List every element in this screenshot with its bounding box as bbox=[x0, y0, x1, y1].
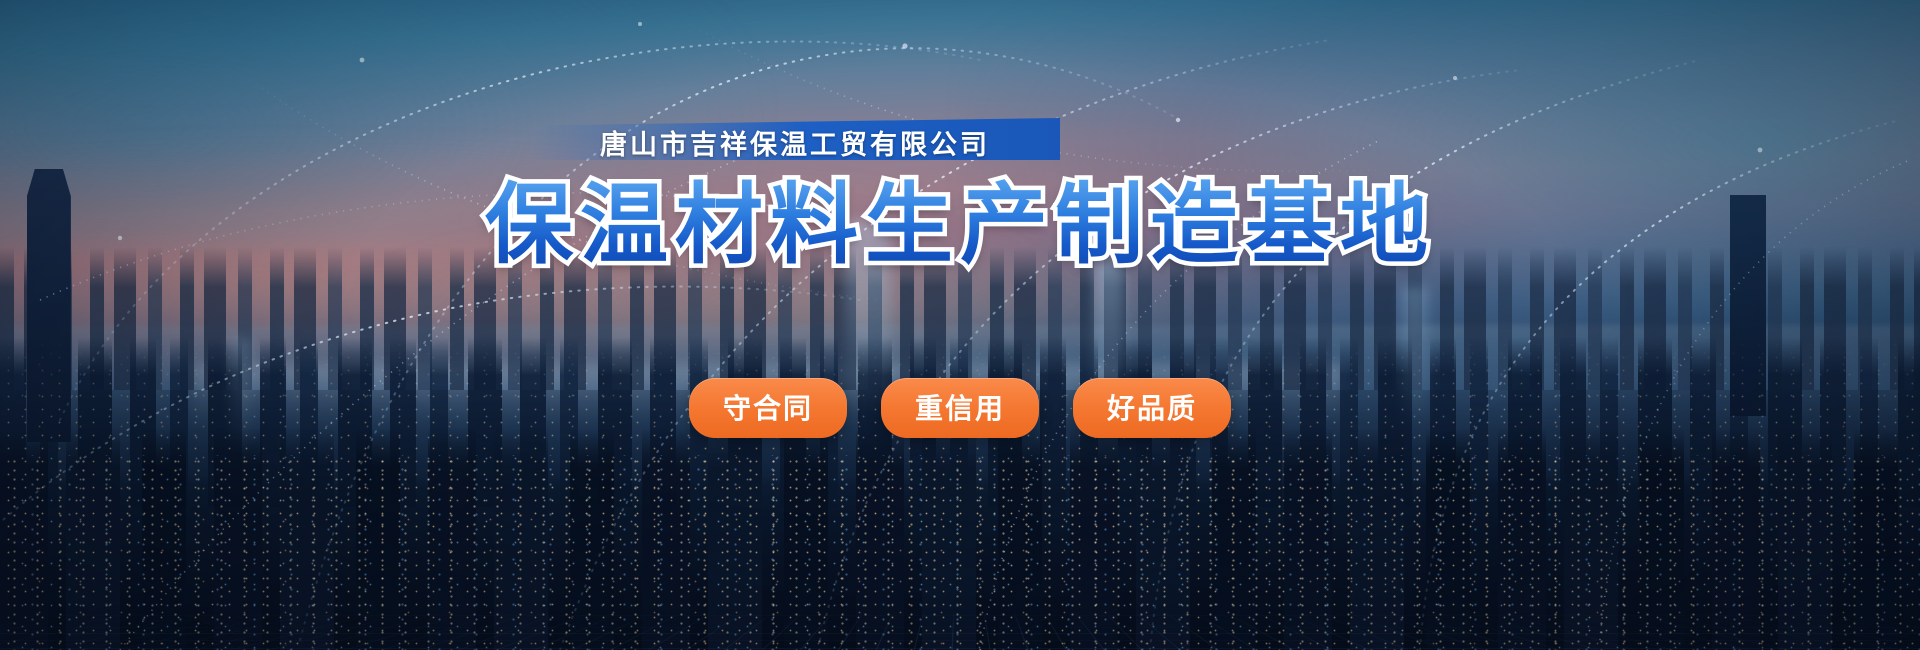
badge-credit[interactable]: 重信用 bbox=[881, 378, 1039, 438]
page-title: 保温材料生产制造基地 保温材料生产制造基地 bbox=[0, 178, 1920, 271]
hero-content: 唐山市吉祥保温工贸有限公司 保温材料生产制造基地 保温材料生产制造基地 守合同 … bbox=[0, 0, 1920, 650]
badge-quality[interactable]: 好品质 bbox=[1073, 378, 1231, 438]
badge-contract[interactable]: 守合同 bbox=[689, 378, 847, 438]
headline-text: 保温材料生产制造基地 bbox=[485, 175, 1435, 274]
company-name-ribbon: 唐山市吉祥保温工贸有限公司 bbox=[530, 118, 1060, 160]
feature-badges: 守合同 重信用 好品质 bbox=[0, 378, 1920, 438]
hero-banner: 唐山市吉祥保温工贸有限公司 保温材料生产制造基地 保温材料生产制造基地 守合同 … bbox=[0, 0, 1920, 650]
company-name: 唐山市吉祥保温工贸有限公司 bbox=[600, 123, 990, 162]
